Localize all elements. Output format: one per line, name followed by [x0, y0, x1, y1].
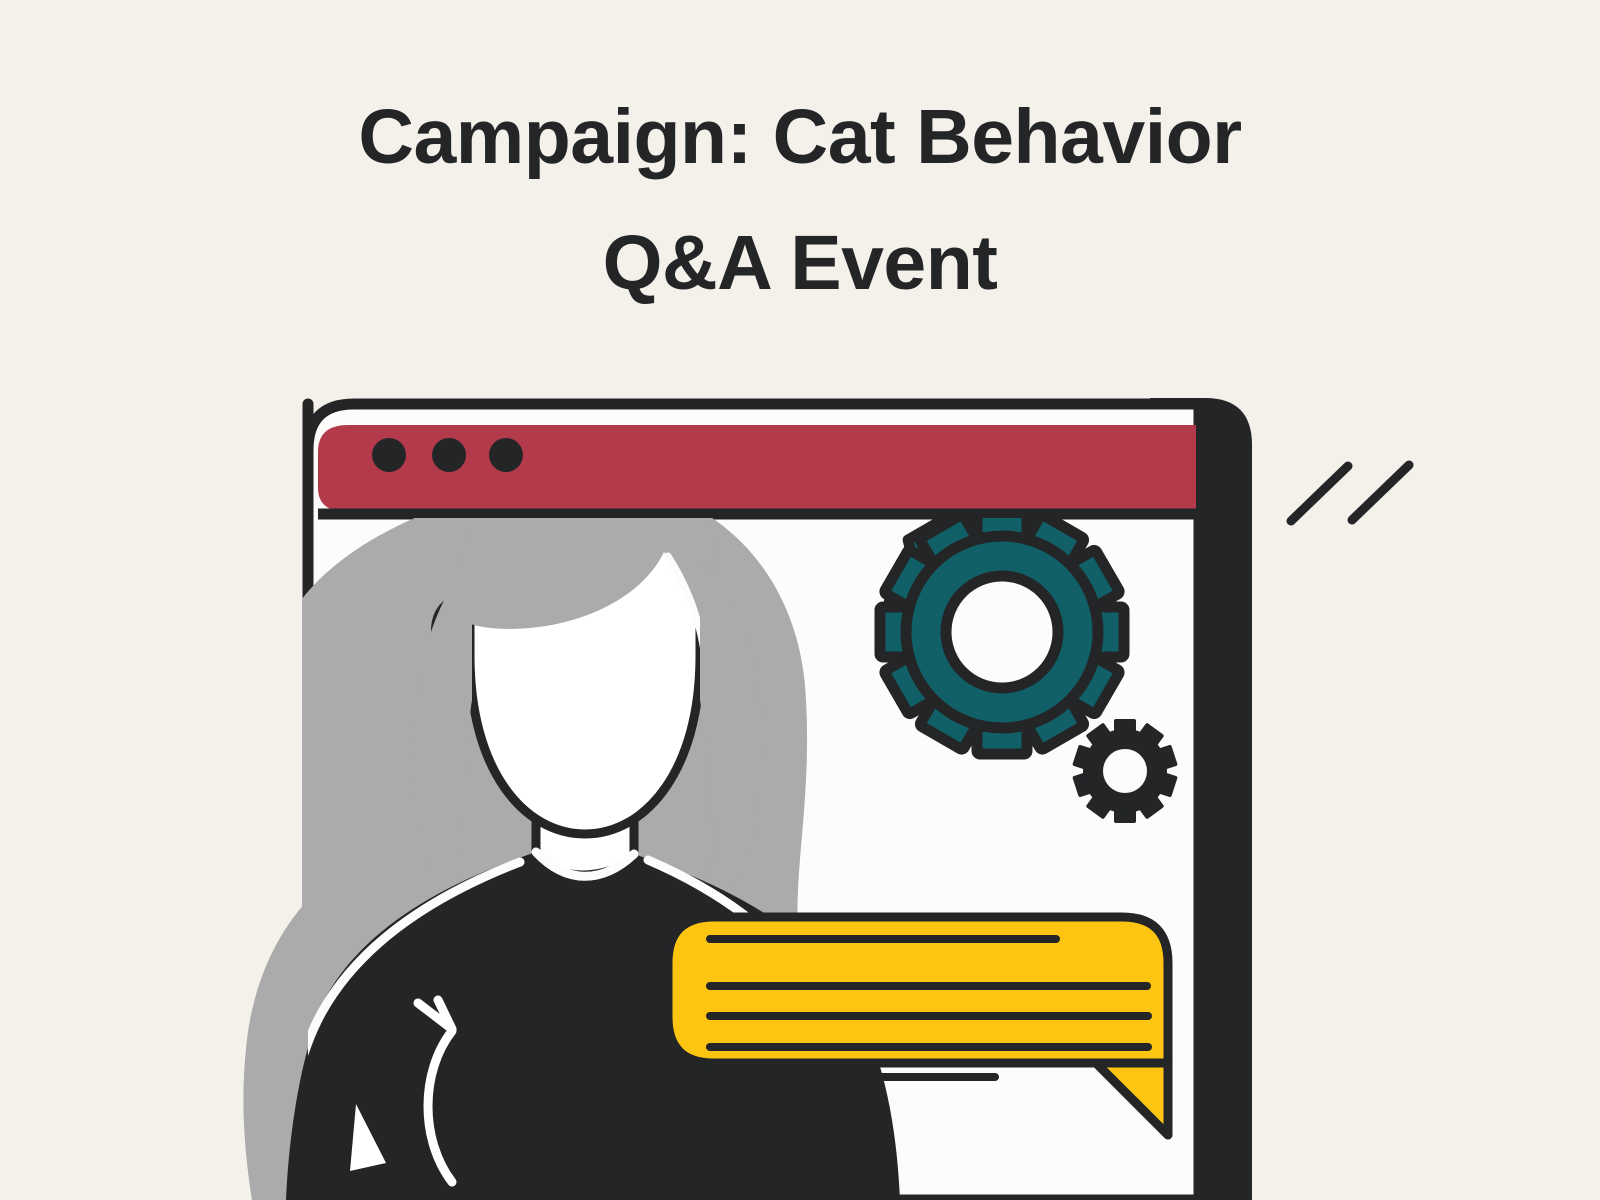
small-gear-icon: [1072, 719, 1178, 823]
window-dot-close[interactable]: [372, 438, 406, 472]
window-controls[interactable]: [372, 438, 523, 472]
window-dot-minimize[interactable]: [432, 438, 466, 472]
motion-line-1: [1291, 466, 1348, 521]
poster-canvas: Campaign: Cat Behavior Q&A Event: [0, 0, 1600, 1200]
motion-line-2: [1352, 465, 1409, 520]
webinar-qa-illustration: [0, 0, 1600, 1200]
window-dot-maximize[interactable]: [489, 438, 523, 472]
motion-lines: [1291, 465, 1409, 521]
